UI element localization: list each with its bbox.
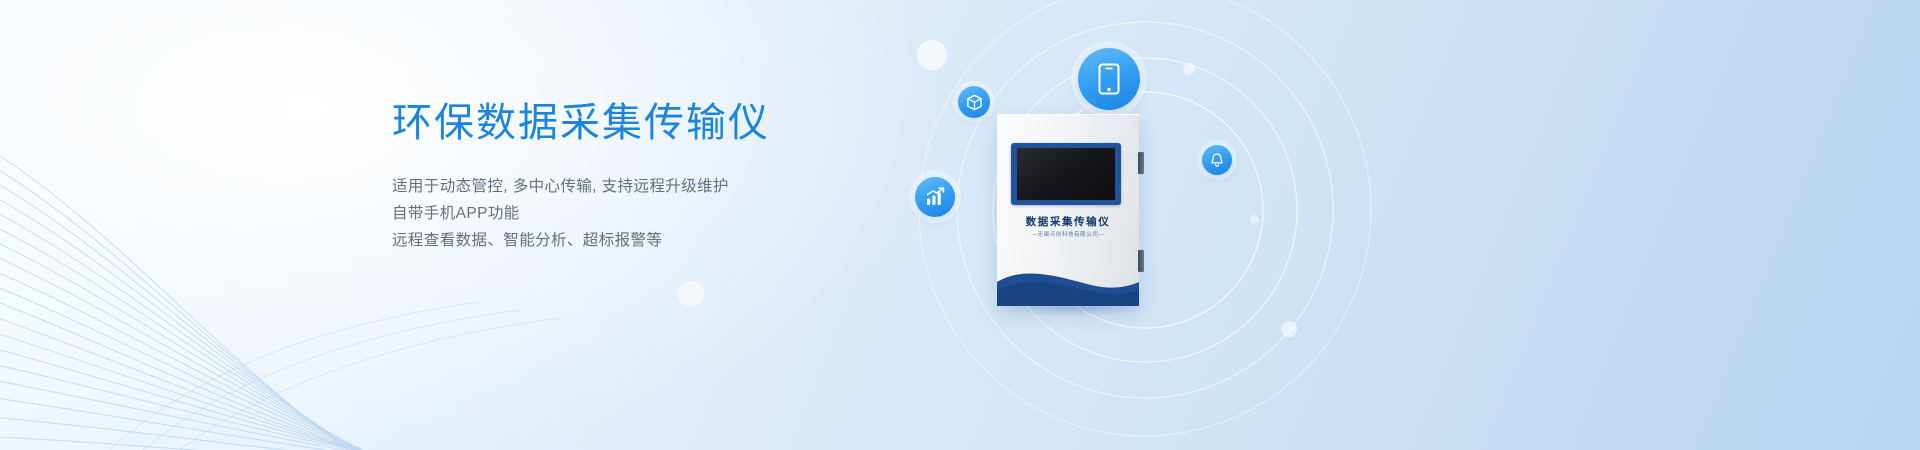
device-hinge bbox=[1138, 152, 1144, 174]
product-banner: 环保数据采集传输仪 适用于动态管控, 多中心传输, 支持远程升级维护 自带手机A… bbox=[0, 0, 1920, 450]
chart-icon bbox=[924, 186, 946, 208]
decorative-circle bbox=[917, 40, 947, 70]
alarm-icon bbox=[1209, 152, 1225, 168]
device-company: —无锡点创科技有限公司— bbox=[997, 230, 1139, 238]
device-base-wave bbox=[997, 260, 1139, 306]
banner-copy: 环保数据采集传输仪 适用于动态管控, 多中心传输, 支持远程升级维护 自带手机A… bbox=[392, 96, 912, 254]
cube-icon-badge[interactable] bbox=[958, 86, 990, 118]
decorative-circle bbox=[1250, 215, 1259, 224]
phone-icon-badge[interactable] bbox=[1078, 48, 1140, 110]
chart-icon-badge[interactable] bbox=[915, 177, 955, 217]
subtitle-line-2: 自带手机APP功能 bbox=[392, 200, 912, 227]
alarm-icon-badge[interactable] bbox=[1202, 145, 1232, 175]
decorative-circle bbox=[1183, 63, 1195, 75]
product-device: 数据采集传输仪 —无锡点创科技有限公司— bbox=[997, 114, 1139, 306]
decorative-circle bbox=[1281, 321, 1297, 337]
subtitle-list: 适用于动态管控, 多中心传输, 支持远程升级维护 自带手机APP功能 远程查看数… bbox=[392, 173, 912, 254]
device-label: 数据采集传输仪 bbox=[997, 214, 1139, 229]
decorative-circle bbox=[678, 281, 704, 307]
phone-icon bbox=[1098, 63, 1120, 95]
page-title: 环保数据采集传输仪 bbox=[392, 96, 912, 150]
subtitle-line-1: 适用于动态管控, 多中心传输, 支持远程升级维护 bbox=[392, 173, 912, 200]
cube-icon bbox=[966, 94, 983, 111]
subtitle-line-3: 远程查看数据、智能分析、超标报警等 bbox=[392, 227, 912, 254]
device-screen bbox=[1017, 148, 1115, 200]
device-screen-frame bbox=[1011, 143, 1121, 205]
